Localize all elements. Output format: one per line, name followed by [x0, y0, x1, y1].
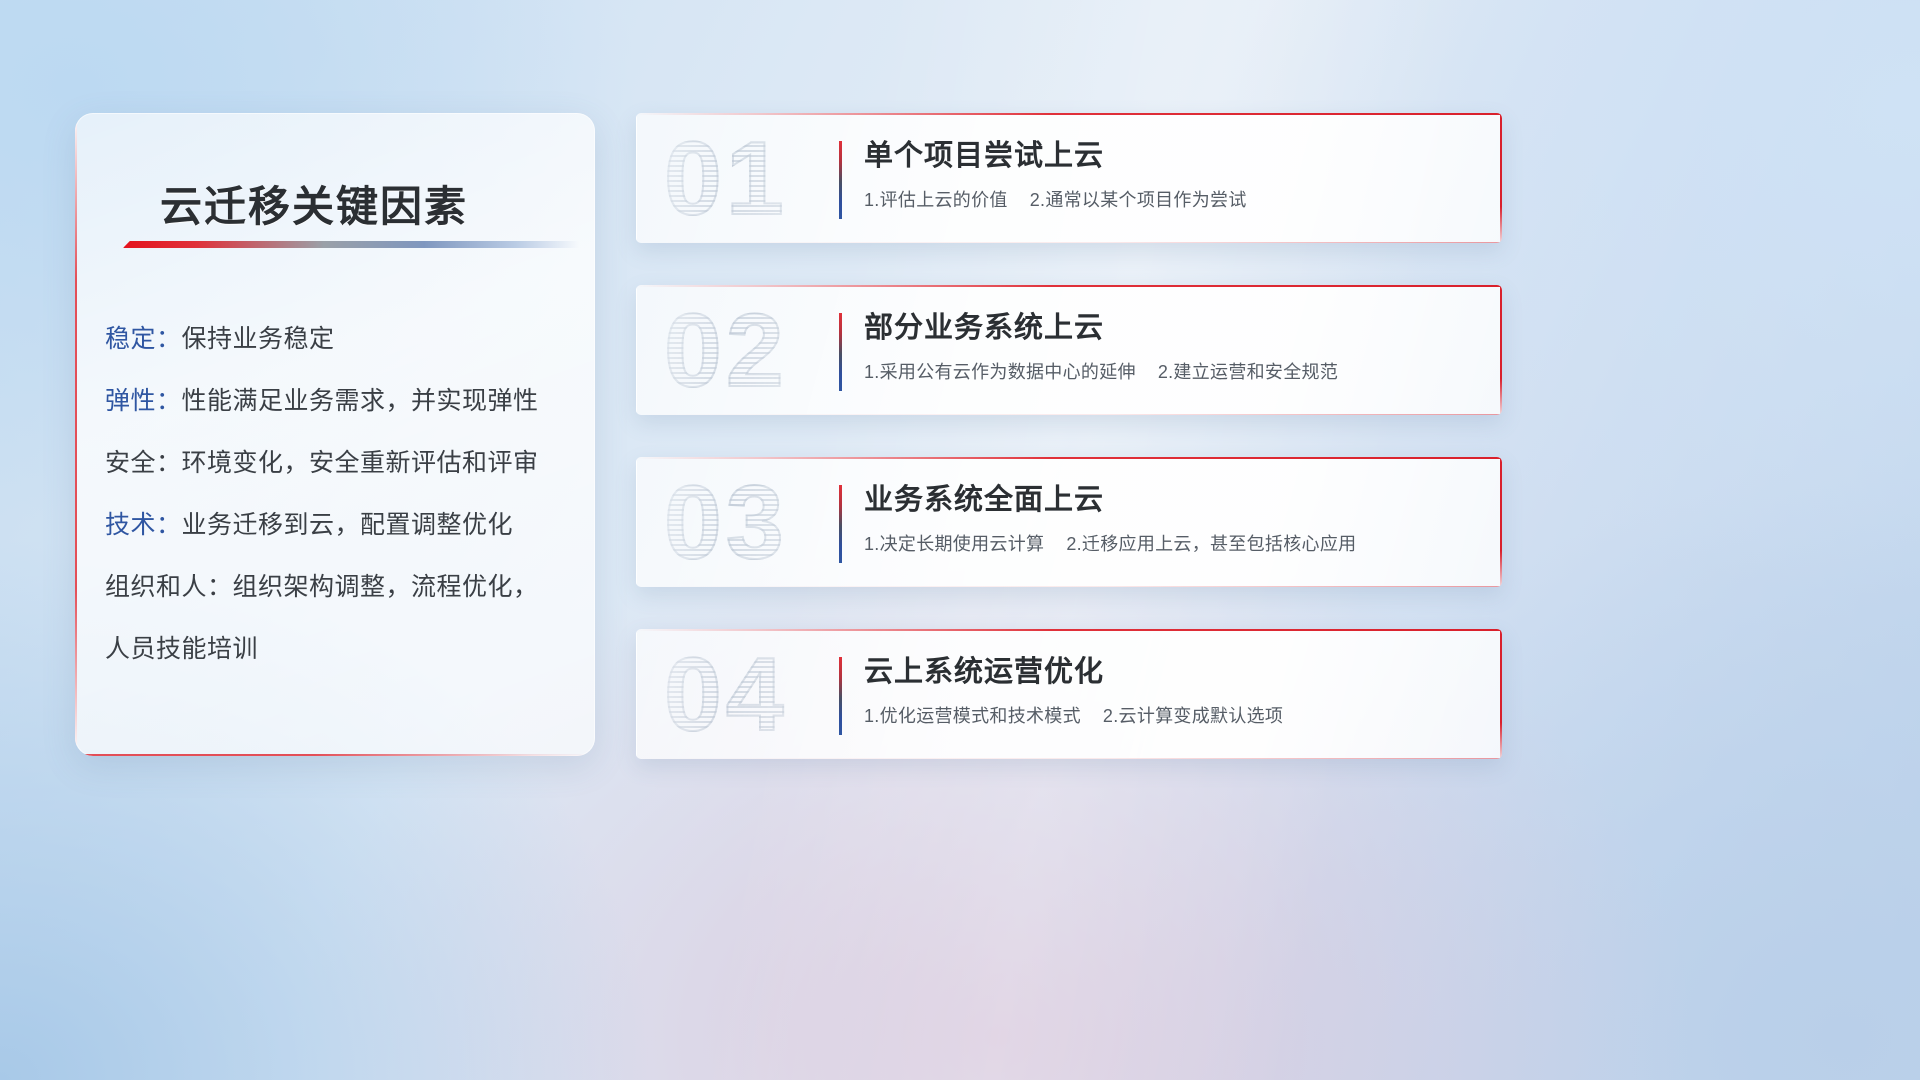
card-number-watermark: 02 [664, 297, 844, 405]
key-factor-line: 技术：业务迁移到云，配置调整优化 [105, 494, 569, 556]
key-factor-text: 业务迁移到云，配置调整优化 [182, 511, 514, 539]
card-left-highlight [636, 113, 637, 243]
key-factor-text: 保持业务稳定 [182, 325, 335, 353]
card-bottom-accent [636, 242, 1502, 243]
key-factor-text: 环境变化，安全重新评估和评审 [182, 449, 539, 477]
card-description-item-2: 2.迁移应用上云，甚至包括核心应用 [1066, 534, 1356, 554]
key-factor-text: 组织架构调整，流程优化， [233, 573, 539, 601]
stage-card[interactable]: 03业务系统全面上云1.决定长期使用云计算2.迁移应用上云，甚至包括核心应用 [636, 457, 1502, 587]
stage-card[interactable]: 02部分业务系统上云1.采用公有云作为数据中心的延伸2.建立运营和安全规范 [636, 285, 1502, 415]
stage-card[interactable]: 04云上系统运营优化1.优化运营模式和技术模式2.云计算变成默认选项 [636, 629, 1502, 759]
card-description-item-1: 1.采用公有云作为数据中心的延伸 [864, 362, 1136, 382]
key-factor-label: 安全： [105, 449, 182, 477]
card-description: 1.决定长期使用云计算2.迁移应用上云，甚至包括核心应用 [864, 527, 1478, 561]
key-factor-label: 稳定： [105, 325, 182, 353]
card-top-accent [636, 629, 1502, 631]
key-factor-line: 稳定：保持业务稳定 [105, 308, 569, 370]
card-title: 单个项目尝试上云 [864, 135, 1478, 177]
card-left-highlight [636, 457, 637, 587]
card-right-accent [1500, 285, 1502, 415]
key-factor-line: 安全：环境变化，安全重新评估和评审 [105, 432, 569, 494]
card-description: 1.评估上云的价值2.通常以某个项目作为尝试 [864, 183, 1478, 217]
key-factor-line: 组织和人：组织架构调整，流程优化， [105, 556, 569, 618]
card-text-block: 业务系统全面上云1.决定长期使用云计算2.迁移应用上云，甚至包括核心应用 [864, 479, 1478, 561]
panel-left-accent-bar [75, 113, 77, 756]
card-number-watermark: 01 [664, 125, 844, 233]
key-factor-text: 性能满足业务需求，并实现弹性 [182, 387, 539, 415]
title-underline-gradient [123, 241, 579, 248]
card-left-highlight [636, 629, 637, 759]
key-factors-panel: 云迁移关键因素 稳定：保持业务稳定弹性：性能满足业务需求，并实现弹性安全：环境变… [75, 113, 595, 756]
card-number-watermark: 04 [664, 641, 844, 749]
card-description-item-2: 2.建立运营和安全规范 [1158, 362, 1338, 382]
key-factor-label: 技术： [105, 511, 182, 539]
key-factor-label: 组织和人： [105, 573, 233, 601]
card-bottom-accent [636, 414, 1502, 415]
card-text-block: 部分业务系统上云1.采用公有云作为数据中心的延伸2.建立运营和安全规范 [864, 307, 1478, 389]
card-top-accent [636, 457, 1502, 459]
card-right-accent [1500, 629, 1502, 759]
card-right-accent [1500, 457, 1502, 587]
card-bottom-accent [636, 758, 1502, 759]
card-text-block: 云上系统运营优化1.优化运营模式和技术模式2.云计算变成默认选项 [864, 651, 1478, 733]
key-factor-label: 弹性： [105, 387, 182, 415]
card-divider-bar [839, 141, 842, 219]
card-title: 部分业务系统上云 [864, 307, 1478, 349]
card-text-block: 单个项目尝试上云1.评估上云的价值2.通常以某个项目作为尝试 [864, 135, 1478, 217]
card-right-accent [1500, 113, 1502, 243]
card-divider-bar [839, 313, 842, 391]
card-description-item-2: 2.通常以某个项目作为尝试 [1030, 190, 1247, 210]
card-description: 1.采用公有云作为数据中心的延伸2.建立运营和安全规范 [864, 355, 1478, 389]
key-factor-line: 弹性：性能满足业务需求，并实现弹性 [105, 370, 569, 432]
card-description: 1.优化运营模式和技术模式2.云计算变成默认选项 [864, 699, 1478, 733]
card-description-item-2: 2.云计算变成默认选项 [1103, 706, 1283, 726]
key-factor-line: 人员技能培训 [105, 618, 569, 680]
card-number-watermark: 03 [664, 469, 844, 577]
card-divider-bar [839, 657, 842, 735]
card-title: 业务系统全面上云 [864, 479, 1478, 521]
page-title: 云迁移关键因素 [160, 173, 468, 234]
card-top-accent [636, 113, 1502, 115]
stage-card-list: 01单个项目尝试上云1.评估上云的价值2.通常以某个项目作为尝试02部分业务系统… [636, 113, 1502, 801]
card-description-item-1: 1.优化运营模式和技术模式 [864, 706, 1081, 726]
card-left-highlight [636, 285, 637, 415]
card-description-item-1: 1.评估上云的价值 [864, 190, 1008, 210]
card-divider-bar [839, 485, 842, 563]
stage-card[interactable]: 01单个项目尝试上云1.评估上云的价值2.通常以某个项目作为尝试 [636, 113, 1502, 243]
key-factors-list: 稳定：保持业务稳定弹性：性能满足业务需求，并实现弹性安全：环境变化，安全重新评估… [105, 308, 569, 680]
panel-bottom-accent-bar [75, 754, 595, 756]
card-description-item-1: 1.决定长期使用云计算 [864, 534, 1044, 554]
card-top-accent [636, 285, 1502, 287]
key-factor-text: 人员技能培训 [105, 635, 258, 663]
card-title: 云上系统运营优化 [864, 651, 1478, 693]
card-bottom-accent [636, 586, 1502, 587]
